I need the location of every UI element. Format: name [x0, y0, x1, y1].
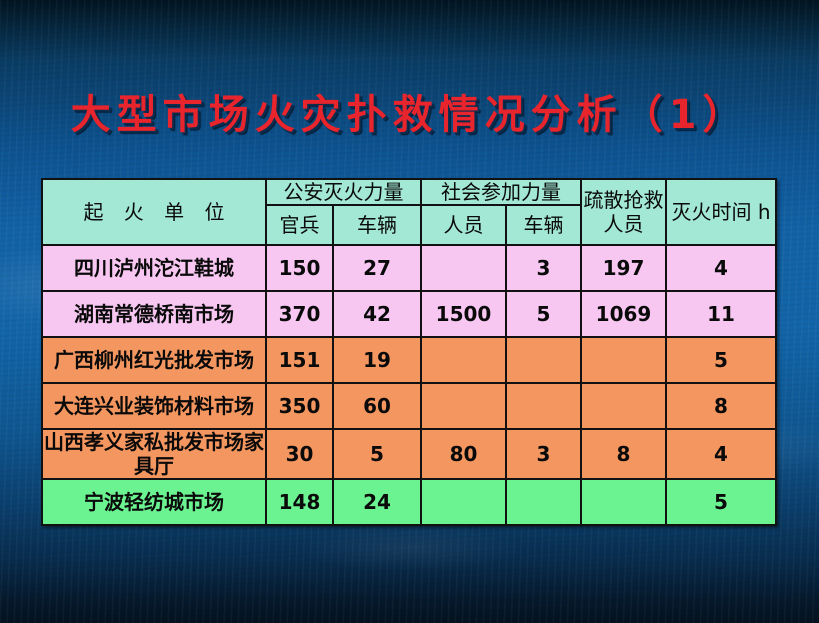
column-header-unit: 起 火 单 位 — [42, 179, 266, 245]
cell-vehicles-social: 5 — [506, 291, 581, 337]
cell-unit: 大连兴业装饰材料市场 — [42, 383, 266, 429]
cell-evacuated: 8 — [581, 429, 666, 479]
column-header-social-force: 社会参加力量 — [421, 179, 581, 205]
cell-evacuated — [581, 383, 666, 429]
header-row-top: 起 火 单 位 公安灭火力量 社会参加力量 疏散抢救人员 灭火时间 h — [42, 179, 776, 205]
cell-officers: 350 — [266, 383, 333, 429]
cell-unit: 四川泸州沱江鞋城 — [42, 245, 266, 291]
cell-duration: 5 — [666, 337, 776, 383]
cell-persons — [421, 383, 506, 429]
cell-unit: 广西柳州红光批发市场 — [42, 337, 266, 383]
cell-unit: 山西孝义家私批发市场家具厅 — [42, 429, 266, 479]
cell-vehicles-social — [506, 383, 581, 429]
cell-persons — [421, 337, 506, 383]
cell-duration: 8 — [666, 383, 776, 429]
table-row: 湖南常德桥南市场3704215005106911 — [42, 291, 776, 337]
fire-statistics-table: 起 火 单 位 公安灭火力量 社会参加力量 疏散抢救人员 灭火时间 h 官兵 车… — [41, 178, 777, 526]
column-header-persons: 人员 — [421, 205, 506, 245]
cell-vehicles-social: 3 — [506, 429, 581, 479]
table-row: 宁波轻纺城市场148245 — [42, 479, 776, 525]
cell-duration: 4 — [666, 429, 776, 479]
cell-officers: 150 — [266, 245, 333, 291]
cell-unit: 湖南常德桥南市场 — [42, 291, 266, 337]
cell-evacuated — [581, 479, 666, 525]
cell-duration: 11 — [666, 291, 776, 337]
cell-vehicles-public: 24 — [333, 479, 421, 525]
cell-officers: 30 — [266, 429, 333, 479]
table-row: 广西柳州红光批发市场151195 — [42, 337, 776, 383]
cell-duration: 4 — [666, 245, 776, 291]
table-row: 四川泸州沱江鞋城1502731974 — [42, 245, 776, 291]
cell-evacuated: 1069 — [581, 291, 666, 337]
cell-officers: 151 — [266, 337, 333, 383]
column-header-duration: 灭火时间 h — [666, 179, 776, 245]
cell-persons — [421, 245, 506, 291]
cell-evacuated — [581, 337, 666, 383]
cell-persons — [421, 479, 506, 525]
presentation-slide: 大型市场火灾扑救情况分析（1） 起 火 单 位 公安灭火力量 社会参加力量 疏散… — [0, 0, 819, 623]
cell-officers: 370 — [266, 291, 333, 337]
slide-title: 大型市场火灾扑救情况分析（1） — [0, 82, 819, 140]
cell-vehicles-social: 3 — [506, 245, 581, 291]
cell-evacuated: 197 — [581, 245, 666, 291]
cell-persons: 1500 — [421, 291, 506, 337]
cell-vehicles-social — [506, 337, 581, 383]
column-header-officers: 官兵 — [266, 205, 333, 245]
column-header-vehicles-social: 车辆 — [506, 205, 581, 245]
cell-vehicles-public: 60 — [333, 383, 421, 429]
column-header-public-force: 公安灭火力量 — [266, 179, 421, 205]
cell-vehicles-public: 27 — [333, 245, 421, 291]
cell-vehicles-public: 5 — [333, 429, 421, 479]
table-body: 四川泸州沱江鞋城1502731974湖南常德桥南市场37042150051069… — [42, 245, 776, 525]
cell-officers: 148 — [266, 479, 333, 525]
table-row: 山西孝义家私批发市场家具厅30580384 — [42, 429, 776, 479]
cell-vehicles-public: 42 — [333, 291, 421, 337]
column-header-vehicles-public: 车辆 — [333, 205, 421, 245]
table-row: 大连兴业装饰材料市场350608 — [42, 383, 776, 429]
table-header: 起 火 单 位 公安灭火力量 社会参加力量 疏散抢救人员 灭火时间 h 官兵 车… — [42, 179, 776, 245]
cell-persons: 80 — [421, 429, 506, 479]
cell-duration: 5 — [666, 479, 776, 525]
cell-vehicles-public: 19 — [333, 337, 421, 383]
column-header-evacuated: 疏散抢救人员 — [581, 179, 666, 245]
cell-unit: 宁波轻纺城市场 — [42, 479, 266, 525]
cell-vehicles-social — [506, 479, 581, 525]
